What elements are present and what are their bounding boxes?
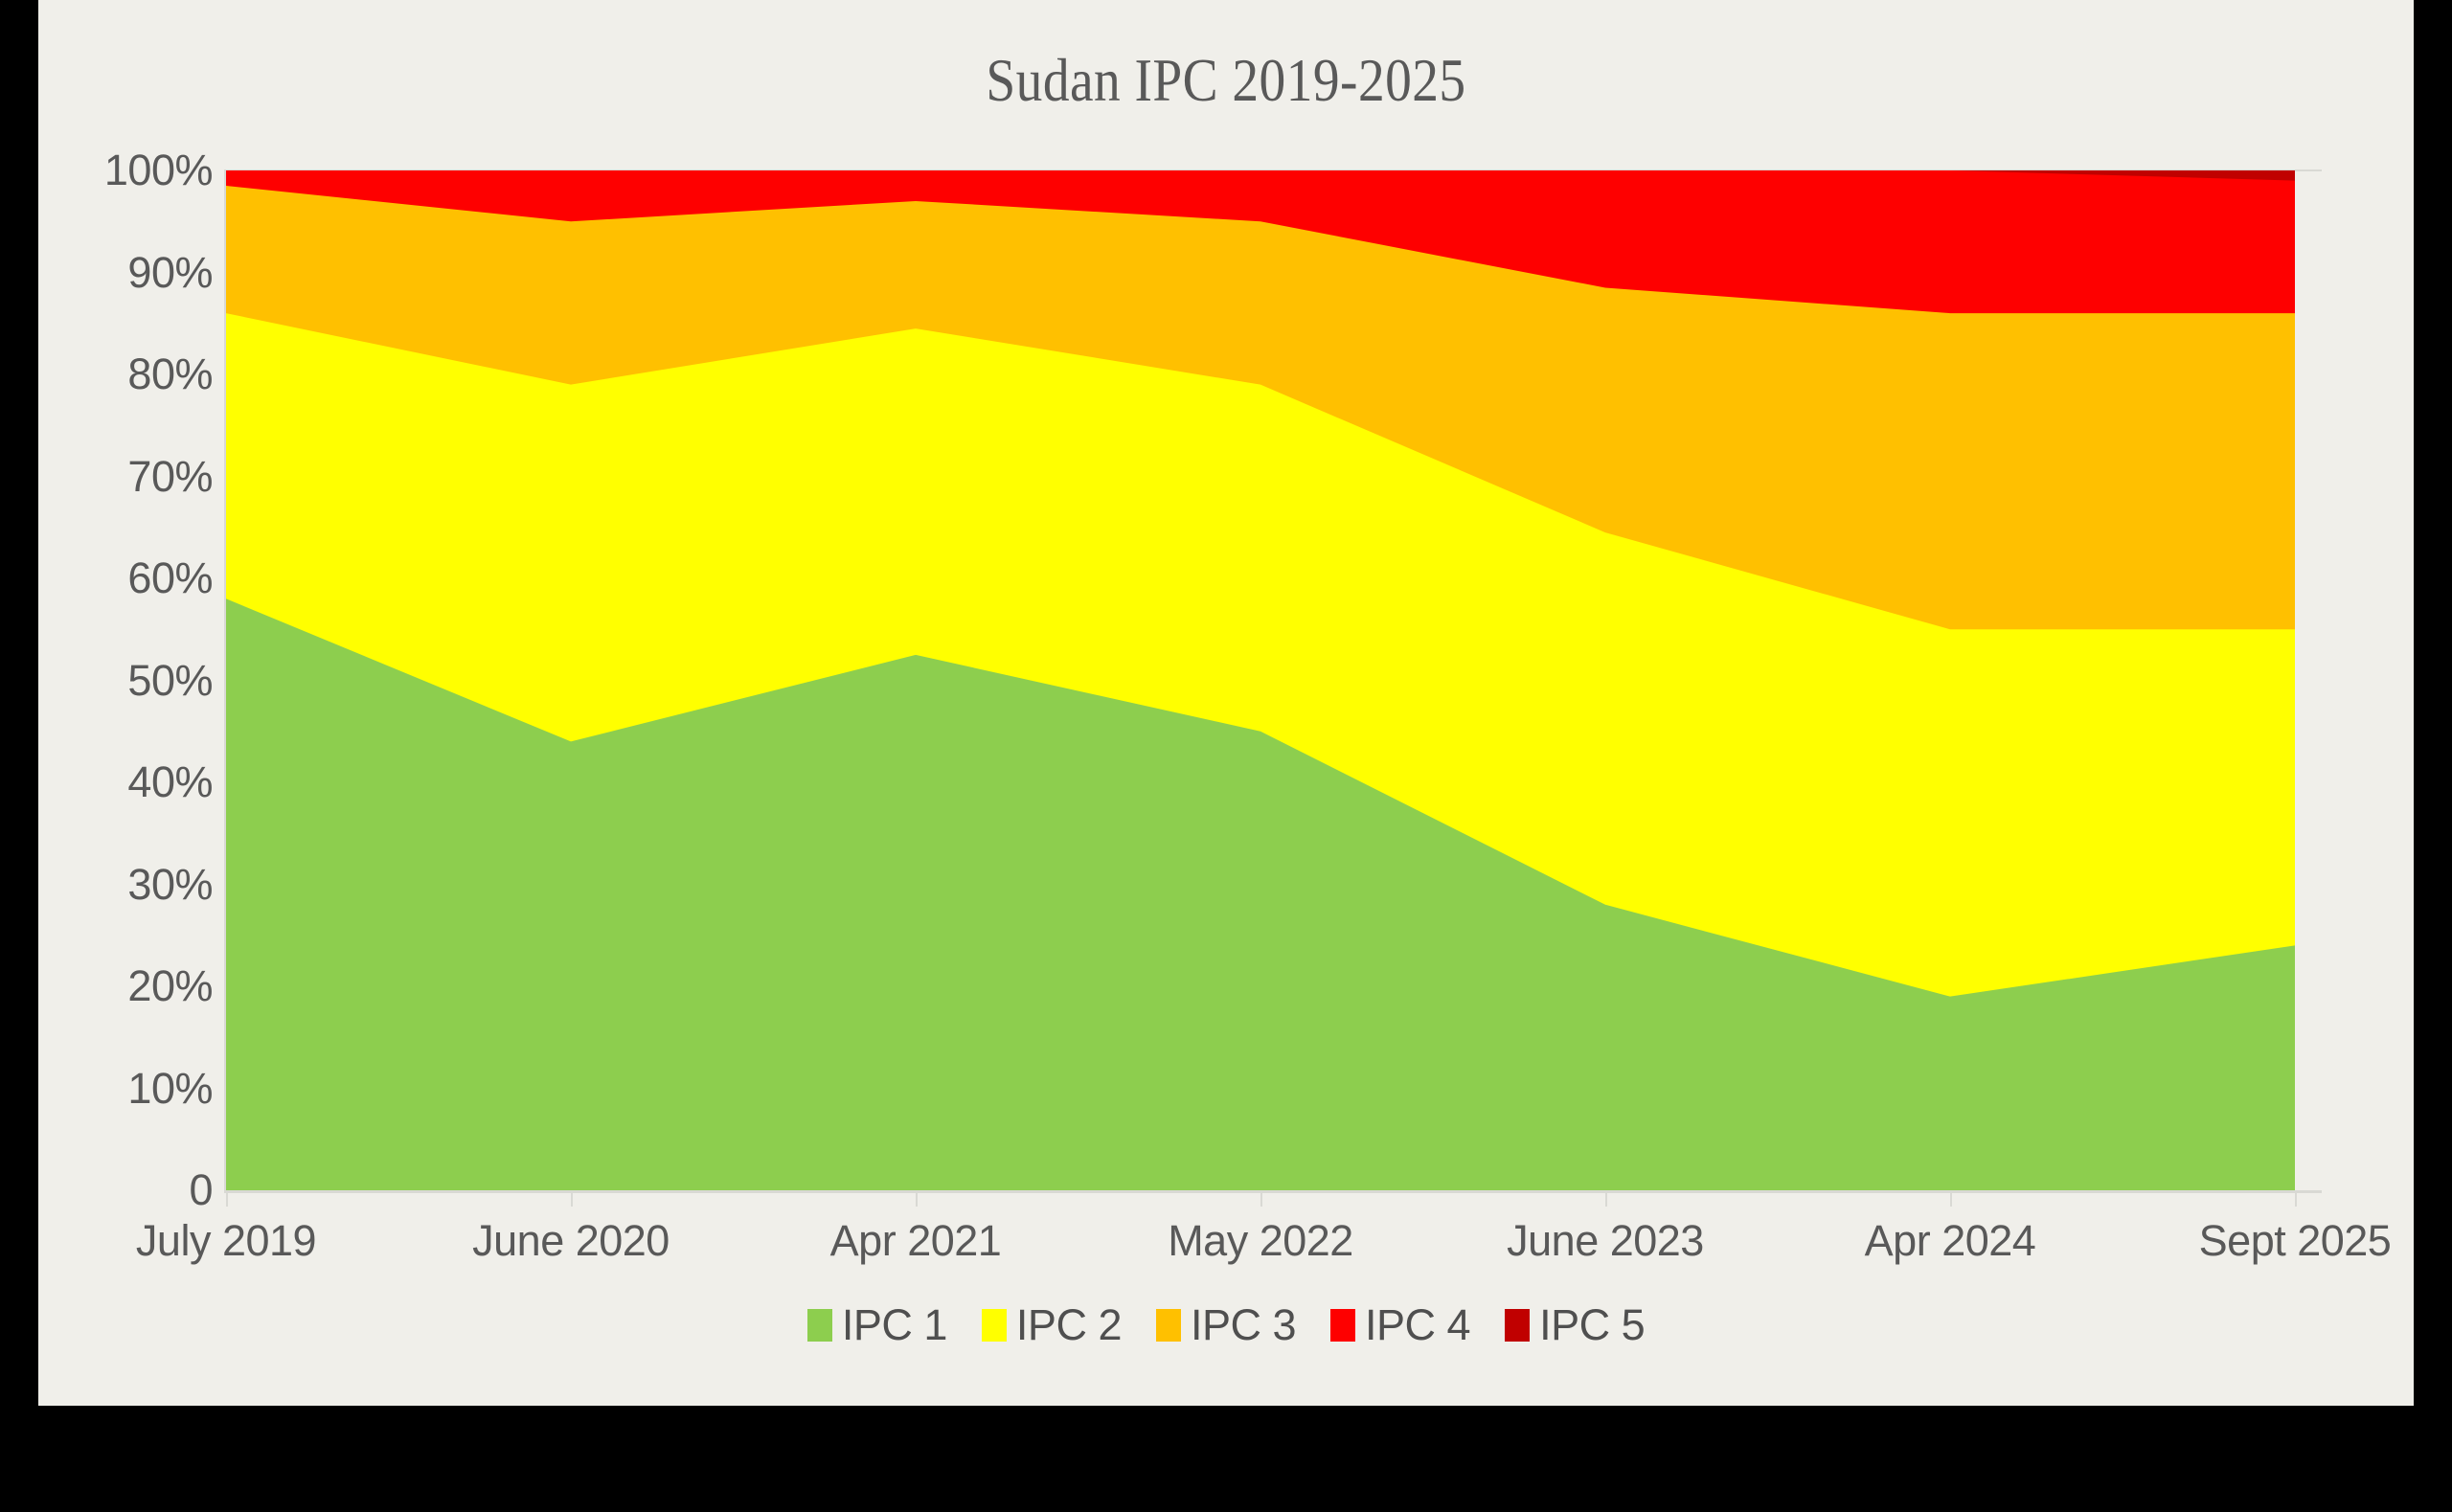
- y-axis-tick-label: 40%: [50, 757, 213, 807]
- legend-label: IPC 1: [842, 1300, 947, 1350]
- y-axis-tick-label: 0: [50, 1165, 213, 1215]
- legend-item-ipc-4[interactable]: IPC 4: [1330, 1300, 1470, 1350]
- y-axis-tick-label: 100%: [50, 146, 213, 195]
- chart-legend: IPC 1IPC 2IPC 3IPC 4IPC 5: [38, 1300, 2414, 1350]
- x-axis-tick-mark: [916, 1191, 918, 1207]
- screenshot-root: Sudan IPC 2019-2025 100%90%80%70%60%50%4…: [0, 0, 2452, 1512]
- legend-swatch-icon: [807, 1309, 832, 1342]
- y-axis-tick-label: 90%: [50, 248, 213, 298]
- y-axis-tick-label: 10%: [50, 1064, 213, 1114]
- legend-item-ipc-3[interactable]: IPC 3: [1156, 1300, 1296, 1350]
- x-axis-tick-mark: [2295, 1191, 2297, 1207]
- x-axis-tick-label: Sept 2025: [2075, 1216, 2414, 1266]
- x-axis-tick-mark: [226, 1191, 228, 1207]
- legend-swatch-icon: [1330, 1309, 1355, 1342]
- y-axis-tick-label: 30%: [50, 860, 213, 910]
- y-axis-tick-label: 20%: [50, 961, 213, 1011]
- legend-item-ipc-5[interactable]: IPC 5: [1505, 1300, 1645, 1350]
- legend-swatch-icon: [982, 1309, 1007, 1342]
- stacked-area-svg: [226, 170, 2295, 1190]
- legend-label: IPC 5: [1539, 1300, 1645, 1350]
- legend-label: IPC 4: [1365, 1300, 1470, 1350]
- x-axis-tick-mark: [571, 1191, 573, 1207]
- legend-swatch-icon: [1505, 1309, 1530, 1342]
- x-axis-tick-mark: [1260, 1191, 1262, 1207]
- x-axis-line: [224, 1190, 2322, 1193]
- plot-wrapper: 100%90%80%70%60%50%40%30%20%10%0 July 20…: [38, 0, 2414, 1406]
- chart-card: Sudan IPC 2019-2025 100%90%80%70%60%50%4…: [38, 0, 2414, 1406]
- x-axis-tick-mark: [1950, 1191, 1952, 1207]
- legend-item-ipc-1[interactable]: IPC 1: [807, 1300, 947, 1350]
- x-axis-tick-mark: [1605, 1191, 1607, 1207]
- y-axis-tick-label: 50%: [50, 656, 213, 706]
- legend-item-ipc-2[interactable]: IPC 2: [982, 1300, 1122, 1350]
- y-axis-tick-label: 80%: [50, 350, 213, 399]
- y-axis-tick-label: 60%: [50, 553, 213, 603]
- y-axis-tick-label: 70%: [50, 452, 213, 502]
- legend-label: IPC 2: [1016, 1300, 1122, 1350]
- plot-area: [226, 170, 2295, 1190]
- legend-swatch-icon: [1156, 1309, 1181, 1342]
- legend-label: IPC 3: [1191, 1300, 1296, 1350]
